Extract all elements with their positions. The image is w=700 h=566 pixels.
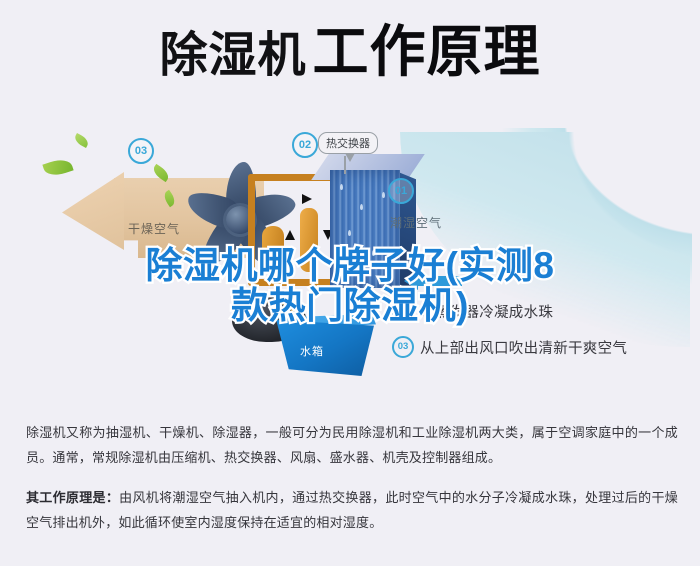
step-number: 03	[392, 336, 414, 358]
badge-01-humid-air: 01	[388, 178, 414, 204]
article-body: 除湿机又称为抽湿机、干燥机、除湿器，一般可分为民用除湿机和工业除湿机两大类，属于…	[26, 420, 678, 549]
page-root: 除湿机工作原理	[0, 0, 700, 566]
article-paragraph-2-lead: 其工作原理是：	[26, 490, 119, 505]
article-paragraph-1: 除湿机又称为抽湿机、干燥机、除湿器，一般可分为民用除湿机和工业除湿机两大类，属于…	[26, 420, 678, 471]
badge-02-heat-exchanger: 02	[292, 132, 318, 158]
water-droplet-icon	[360, 204, 363, 210]
water-tank-label: 水箱	[300, 343, 324, 359]
badge-03-dry-air: 03	[128, 138, 154, 164]
water-droplet-icon	[340, 184, 343, 190]
leaf-icon	[73, 133, 90, 148]
callout-stem	[344, 156, 346, 174]
page-title: 除湿机工作原理	[0, 24, 700, 80]
water-droplet-icon	[348, 230, 351, 236]
page-title-part2: 工作原理	[313, 20, 541, 83]
humid-air-label: 潮湿空气	[390, 214, 442, 231]
step-text: 从上部出风口吹出清新干爽空气	[420, 337, 627, 358]
overlay-headline: 除湿机哪个牌子好(实测8 款热门除湿机)	[0, 246, 700, 326]
process-step: 03 从上部出风口吹出清新干爽空气	[392, 336, 692, 358]
page-title-part1: 除湿机	[159, 29, 306, 82]
article-paragraph-2-rest: 由风机将潮湿空气抽入机内，通过热交换器，此时空气中的水分子冷凝成水珠，处理过后的…	[26, 490, 678, 530]
heat-exchanger-callout: 热交换器	[318, 132, 378, 154]
article-paragraph-2: 其工作原理是：由风机将潮湿空气抽入机内，通过热交换器，此时空气中的水分子冷凝成水…	[26, 485, 678, 536]
dry-air-arrow-head	[62, 172, 124, 250]
flow-arrow-right-icon	[302, 194, 312, 204]
dry-air-label: 干燥空气	[128, 220, 180, 237]
flow-arrow-up-icon	[285, 230, 295, 240]
water-droplet-icon	[382, 192, 385, 198]
